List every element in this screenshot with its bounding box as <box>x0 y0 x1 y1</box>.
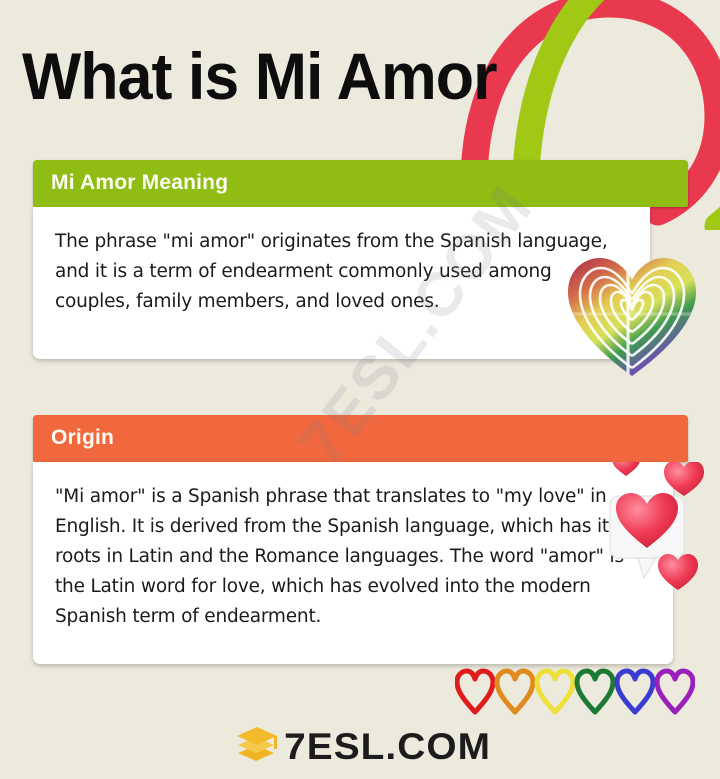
card-body-mi-amor-meaning: The phrase "mi amor" originates from the… <box>33 207 650 359</box>
rainbow-heart-row <box>455 668 695 716</box>
graduation-cap-icon <box>234 723 280 771</box>
card-origin: Origin "Mi amor" is a Spanish phrase tha… <box>33 415 688 664</box>
heart-red <box>457 671 493 712</box>
heart-purple <box>657 671 693 712</box>
page-title-container: What is Mi Amor <box>22 26 662 126</box>
card-header-origin: Origin <box>33 415 688 462</box>
card-body-text: "Mi amor" is a Spanish phrase that trans… <box>55 482 651 632</box>
page-title: What is Mi Amor <box>22 43 497 109</box>
footer-logo-text: 7ESL.COM <box>284 726 491 768</box>
card-mi-amor-meaning: Mi Amor Meaning The phrase "mi amor" ori… <box>33 160 688 359</box>
card-body-text: The phrase "mi amor" originates from the… <box>55 227 628 317</box>
card-header-label: Mi Amor Meaning <box>51 171 228 194</box>
heart-yellow <box>537 671 573 712</box>
heart-orange <box>497 671 533 712</box>
heart-green <box>577 671 613 712</box>
footer-logo[interactable]: 7ESL.COM <box>0 722 720 772</box>
card-header-label: Origin <box>51 426 114 449</box>
card-body-origin: "Mi amor" is a Spanish phrase that trans… <box>33 462 673 664</box>
heart-blue <box>617 671 653 712</box>
card-header-mi-amor-meaning: Mi Amor Meaning <box>33 160 688 207</box>
